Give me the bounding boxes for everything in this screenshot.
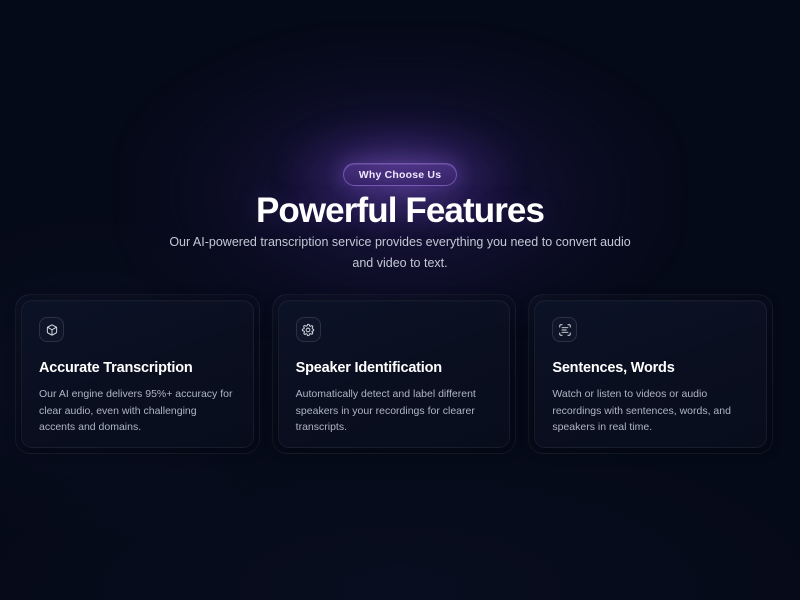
feature-card-wrapper-1: Accurate Transcription Our AI engine del… [15, 294, 260, 454]
feature-card-description: Watch or listen to videos or audio recor… [552, 386, 749, 436]
feature-icon-container-1 [39, 317, 64, 342]
box-3d-icon [45, 323, 59, 337]
feature-icon-container-2 [296, 317, 321, 342]
feature-icon-container-3 [552, 317, 577, 342]
section-subtitle: Our AI-powered transcription service pro… [165, 232, 635, 274]
feature-card-title: Accurate Transcription [39, 359, 236, 377]
feature-card-wrapper-2: Speaker Identification Automatically det… [272, 294, 517, 454]
section-title: Powerful Features [0, 192, 800, 230]
scan-text-icon [558, 323, 572, 337]
feature-card-description: Our AI engine delivers 95%+ accuracy for… [39, 386, 236, 436]
feature-card-sentences-words[interactable]: Sentences, Words Watch or listen to vide… [534, 300, 767, 448]
feature-card-speaker-identification[interactable]: Speaker Identification Automatically det… [278, 300, 511, 448]
gear-icon [301, 323, 315, 337]
why-choose-us-badge[interactable]: Why Choose Us [343, 163, 458, 186]
badge-row: Why Choose Us [0, 163, 800, 186]
feature-card-description: Automatically detect and label different… [296, 386, 493, 436]
feature-card-accurate-transcription[interactable]: Accurate Transcription Our AI engine del… [21, 300, 254, 448]
feature-card-wrapper-3: Sentences, Words Watch or listen to vide… [528, 294, 773, 454]
feature-cards-grid: Accurate Transcription Our AI engine del… [15, 294, 773, 454]
features-section: Why Choose Us Powerful Features Our AI-p… [0, 0, 800, 600]
feature-card-title: Sentences, Words [552, 359, 749, 377]
feature-card-title: Speaker Identification [296, 359, 493, 377]
